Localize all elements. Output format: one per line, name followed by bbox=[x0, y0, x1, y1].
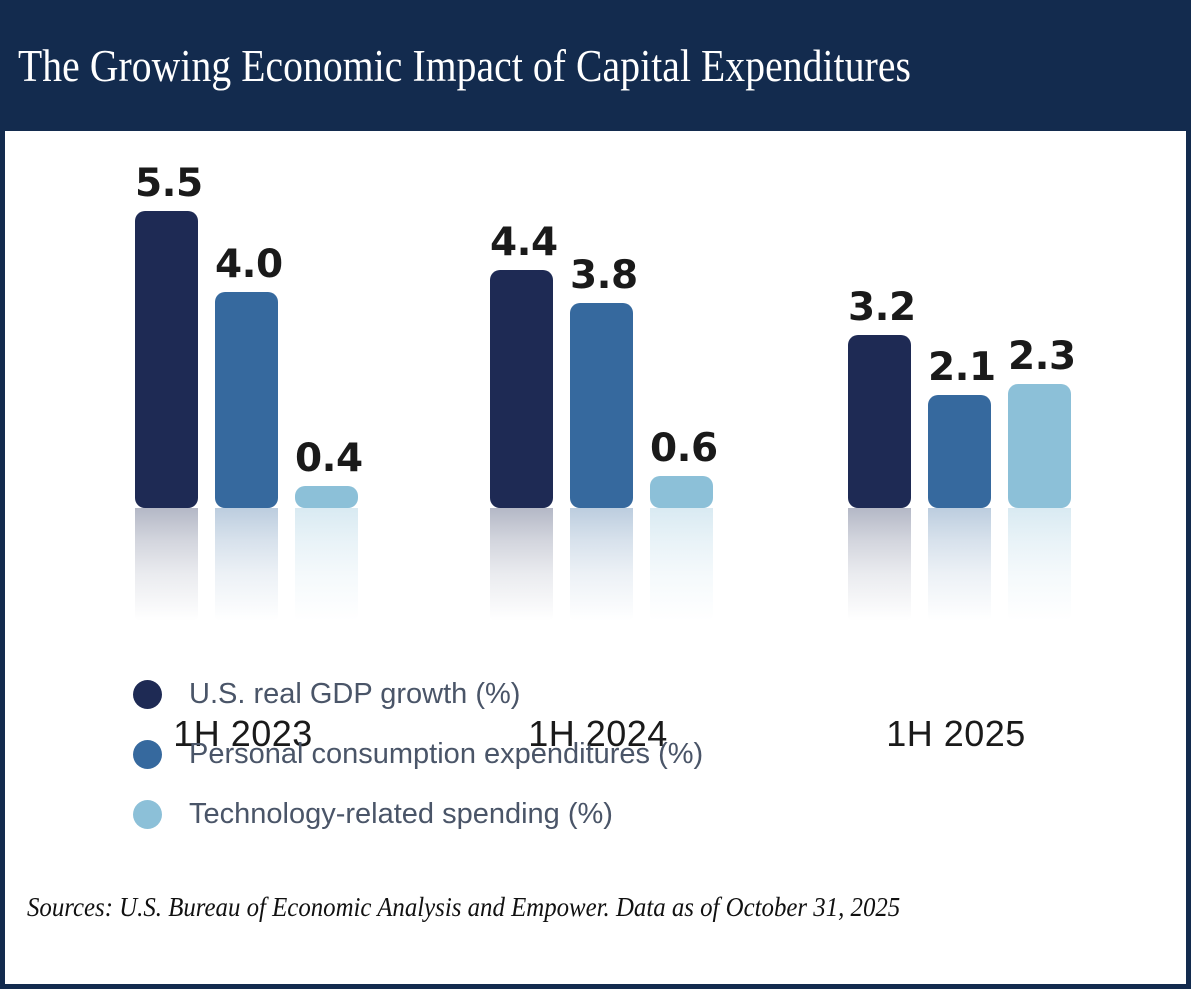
legend-swatch-icon bbox=[133, 680, 162, 709]
bar-reflection bbox=[135, 508, 198, 621]
bar-value-label: 4.4 bbox=[490, 223, 553, 262]
bar[interactable] bbox=[1008, 384, 1071, 508]
bar[interactable] bbox=[650, 476, 713, 508]
bar-value-label: 3.2 bbox=[848, 288, 911, 327]
bar-value-label: 2.1 bbox=[928, 348, 991, 387]
bar-slot: 5.5 bbox=[135, 131, 198, 631]
bar[interactable] bbox=[848, 335, 911, 508]
bar-reflection bbox=[848, 508, 911, 621]
bar-value-label: 4.0 bbox=[215, 245, 278, 284]
bar-value-label: 0.4 bbox=[295, 439, 358, 478]
legend-swatch-icon bbox=[133, 800, 162, 829]
bar[interactable] bbox=[295, 486, 358, 508]
legend-swatch-icon bbox=[133, 740, 162, 769]
bar-value-label: 0.6 bbox=[650, 429, 713, 468]
bar-value-label: 3.8 bbox=[570, 256, 633, 295]
bar-reflection bbox=[215, 508, 278, 621]
bar-slot: 3.2 bbox=[848, 131, 911, 631]
chart-figure: The Growing Economic Impact of Capital E… bbox=[0, 0, 1191, 989]
bar-slot: 3.8 bbox=[570, 131, 633, 631]
bar-chart-plot: 5.54.00.41H 20234.43.80.61H 20243.22.12.… bbox=[5, 131, 1186, 631]
legend-item[interactable]: U.S. real GDP growth (%) bbox=[133, 664, 1083, 724]
legend-item[interactable]: Technology-related spending (%) bbox=[133, 784, 1083, 844]
bar-slot: 4.4 bbox=[490, 131, 553, 631]
bar[interactable] bbox=[215, 292, 278, 508]
bar-reflection bbox=[570, 508, 633, 621]
bar-reflection bbox=[1008, 508, 1071, 621]
bar-reflection bbox=[295, 508, 358, 621]
bar-reflection bbox=[650, 508, 713, 621]
source-note: Sources: U.S. Bureau of Economic Analysi… bbox=[27, 886, 1076, 930]
bar-reflection bbox=[928, 508, 991, 621]
bar-slot: 0.4 bbox=[295, 131, 358, 631]
chart-panel: 5.54.00.41H 20234.43.80.61H 20243.22.12.… bbox=[0, 131, 1191, 989]
bar-slot: 4.0 bbox=[215, 131, 278, 631]
bar-reflection bbox=[490, 508, 553, 621]
bar[interactable] bbox=[490, 270, 553, 508]
legend-item-label: Technology-related spending (%) bbox=[189, 798, 613, 831]
page-title: The Growing Economic Impact of Capital E… bbox=[18, 40, 1039, 92]
bar-slot: 0.6 bbox=[650, 131, 713, 631]
chart-legend: U.S. real GDP growth (%)Personal consump… bbox=[133, 664, 1083, 844]
bar-slot: 2.3 bbox=[1008, 131, 1071, 631]
bar-value-label: 2.3 bbox=[1008, 337, 1071, 376]
legend-item[interactable]: Personal consumption expenditures (%) bbox=[133, 724, 1083, 784]
legend-item-label: U.S. real GDP growth (%) bbox=[189, 678, 520, 711]
bar-slot: 2.1 bbox=[928, 131, 991, 631]
bar[interactable] bbox=[928, 395, 991, 508]
bar-value-label: 5.5 bbox=[135, 164, 198, 203]
bar[interactable] bbox=[135, 211, 198, 508]
chart-header-bar: The Growing Economic Impact of Capital E… bbox=[0, 0, 1191, 131]
legend-item-label: Personal consumption expenditures (%) bbox=[189, 738, 703, 771]
bar[interactable] bbox=[570, 303, 633, 508]
